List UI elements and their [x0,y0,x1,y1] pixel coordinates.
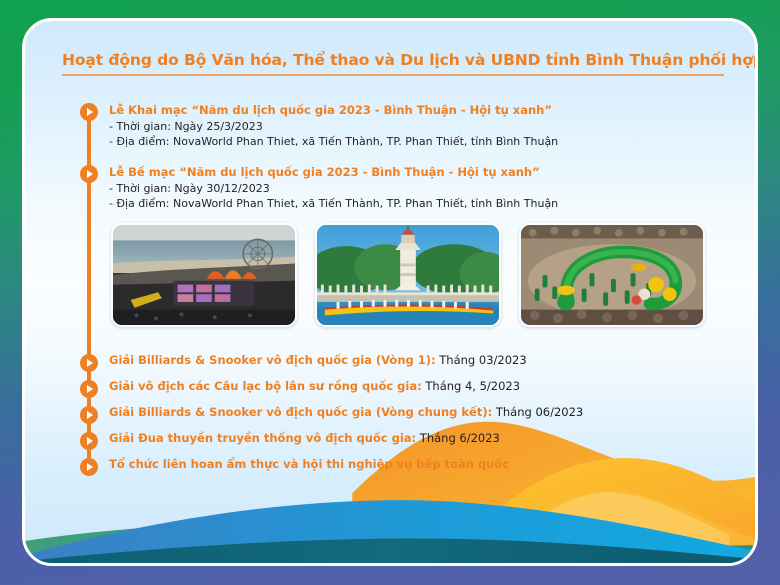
page-title-block: Hoạt động do Bộ Văn hóa, Thể thao và Du … [62,51,722,76]
event-time: - Thời gian: Ngày 30/12/2023 [109,181,719,197]
activity-label: Giải Đua thuyền truyền thống vô địch quố… [109,431,416,445]
event-title: Lễ Khai mạc “Năm du lịch quốc gia 2023 -… [109,103,719,119]
title-underline [62,74,724,76]
activity-item-5: Tổ chức liên hoan ẩm thực và hội thi ngh… [109,457,729,472]
content-card: Hoạt động do Bộ Văn hóa, Thể thao và Du … [22,18,758,566]
bullet-marker-event-1 [80,103,98,121]
event-place: - Địa điểm: NovaWorld Phan Thiet, xã Tiế… [109,196,719,212]
activity-label: Giải vô địch các Câu lạc bộ lân sư rồng … [109,379,422,393]
photo-green-dragon-dance [519,223,705,327]
event-block-closing-ceremony: Lễ Bế mạc “Năm du lịch quốc gia 2023 - B… [109,165,719,212]
event-time: - Thời gian: Ngày 25/3/2023 [109,119,719,135]
activity-label: Giải Billiards & Snooker vô địch quốc gi… [109,405,492,419]
photo-beach-stage-ferris-wheel [111,223,297,327]
activity-value: Tháng 03/2023 [436,353,527,367]
activity-label: Giải Billiards & Snooker vô địch quốc gi… [109,353,436,367]
activity-value: Tháng 6/2023 [416,431,500,445]
bullet-marker-event-2 [80,165,98,183]
event-title: Lễ Bế mạc “Năm du lịch quốc gia 2023 - B… [109,165,719,181]
page-title: Hoạt động do Bộ Văn hóa, Thể thao và Du … [62,51,722,74]
bullet-marker-activity-5 [80,458,98,476]
bullet-marker-activity-1 [80,354,98,372]
event-place: - Địa điểm: NovaWorld Phan Thiet, xã Tiế… [109,134,719,150]
bullet-marker-activity-4 [80,432,98,450]
photo-water-tower-dragon-boat [315,223,501,327]
bullet-marker-activity-2 [80,380,98,398]
activity-item-2: Giải vô địch các Câu lạc bộ lân sư rồng … [109,379,729,394]
activity-label: Tổ chức liên hoan ẩm thực và hội thi ngh… [109,457,509,471]
poster-root: Hoạt động do Bộ Văn hóa, Thể thao và Du … [0,0,780,585]
activity-value: Tháng 4, 5/2023 [422,379,520,393]
bullet-marker-activity-3 [80,406,98,424]
activity-item-4: Giải Đua thuyền truyền thống vô địch quố… [109,431,729,446]
activity-item-3: Giải Billiards & Snooker vô địch quốc gi… [109,405,729,420]
activity-value: Tháng 06/2023 [492,405,583,419]
photo-gallery [111,223,705,327]
activity-item-1: Giải Billiards & Snooker vô địch quốc gi… [109,353,729,368]
event-block-opening-ceremony: Lễ Khai mạc “Năm du lịch quốc gia 2023 -… [109,103,719,150]
